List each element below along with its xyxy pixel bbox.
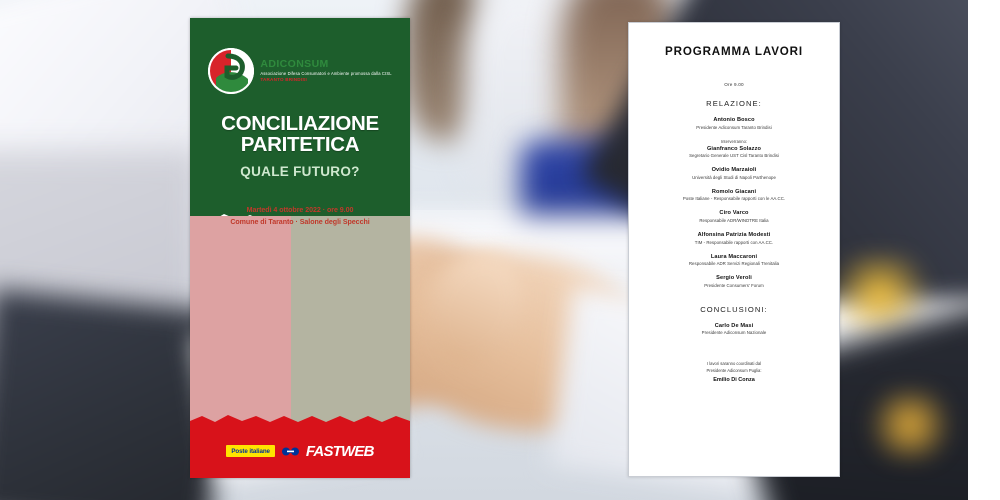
program-start-time: Ore 9.00: [641, 82, 827, 87]
speaker-role: Presidente Consumers' Forum: [641, 283, 827, 288]
coordinator-note-line2: Presidente Adiconsum Puglia:: [641, 368, 827, 375]
adiconsum-logo-subtitle: Associazione Difesa Consumatori e Ambien…: [260, 72, 391, 76]
poster-subtitle: QUALE FUTURO?: [190, 164, 410, 179]
speaker-name: Ciro Varco: [641, 210, 827, 216]
speaker-name: Alfonsina Patrizia Modesti: [641, 232, 827, 238]
coordinator-note: I lavori saranno coordinati dal Presiden…: [641, 361, 827, 382]
poste-italiane-logo-icon: Poste italiane: [226, 445, 275, 457]
event-poster: ADICONSUM Associazione Difesa Consumator…: [190, 18, 410, 478]
speaker-role: Presidente Adiconsum Nazionale: [641, 330, 827, 335]
section-heading-relazione: RELAZIONE:: [641, 99, 827, 108]
poster-title-line1: CONCILIAZIONE: [221, 112, 379, 135]
speaker-entry: Interverranno: Gianfranco Solazzo Segret…: [641, 139, 827, 159]
adiconsum-circle-logo-icon: [208, 48, 254, 94]
section-heading-conclusioni: CONCLUSIONI:: [641, 305, 827, 314]
speaker-entry: Alfonsina Patrizia Modesti TIM - Respons…: [641, 232, 827, 245]
fastweb-logo-icon: FASTWEB: [306, 443, 374, 460]
speaker-name: Laura Maccaroni: [641, 254, 827, 260]
speaker-role: Università degli Studi di Napoli Parthen…: [641, 175, 827, 180]
program-title: PROGRAMMA LAVORI: [641, 45, 827, 58]
background-photo: [0, 0, 1000, 500]
poste-italiane-mark-icon: [282, 445, 299, 458]
adiconsum-logo: ADICONSUM Associazione Difesa Consumator…: [190, 48, 410, 94]
speaker-role: Responsabile ADR/WINDTRE Italia: [641, 218, 827, 223]
speaker-role: Presidente Adiconsum Taranto Brindisi: [641, 125, 827, 130]
poster-event-venue: Comune di Taranto · Salone degli Specchi: [190, 216, 410, 228]
poster-title-line2: PARITETICA: [190, 135, 410, 156]
speaker-name: Sergio Veroli: [641, 275, 827, 281]
coordinator-note-line1: I lavori saranno coordinati dal: [641, 361, 827, 368]
poster-illustration-band: [190, 216, 410, 438]
speaker-entry: Carlo De Masi Presidente Adiconsum Nazio…: [641, 323, 827, 336]
adiconsum-logo-city: TARANTO BRINDISI: [260, 78, 391, 83]
warm-light-glow-lower: [860, 390, 960, 460]
speaker-role: TIM - Responsabile rapporti con AA.CC.: [641, 240, 827, 245]
poster-sponsor-row: Poste italiane FASTWEB: [190, 436, 410, 466]
speaker-name: Ovidio Marzaioli: [641, 167, 827, 173]
speaker-entry: Laura Maccaroni Responsabile ADR Servizi…: [641, 254, 827, 267]
speaker-role: Poste Italiane - Responsabile rapporti c…: [641, 196, 827, 201]
speaker-role: Segretario Generale UST Cisl Taranto Bri…: [641, 153, 827, 158]
poster-event-date: Martedì 4 ottobre 2022 · ore 9.00: [190, 204, 410, 216]
speaker-entry: Sergio Veroli Presidente Consumers' Foru…: [641, 275, 827, 288]
speaker-name: Romolo Giacani: [641, 189, 827, 195]
speaker-role: Responsabile ADR Servizi Regionali Treni…: [641, 261, 827, 266]
speaker-entry: Antonio Bosco Presidente Adiconsum Taran…: [641, 117, 827, 130]
speaker-name: Carlo De Masi: [641, 323, 827, 329]
speaker-entry: Ciro Varco Responsabile ADR/WINDTRE Ital…: [641, 210, 827, 223]
right-white-margin: [968, 0, 1000, 500]
speaker-name: Gianfranco Solazzo: [641, 146, 827, 152]
speaker-name: Antonio Bosco: [641, 117, 827, 123]
adiconsum-logo-name: ADICONSUM: [260, 59, 391, 70]
program-sheet: PROGRAMMA LAVORI Ore 9.00 RELAZIONE: Ant…: [628, 22, 840, 477]
coordinator-name: Emilio Di Conza: [641, 377, 827, 383]
poster-event-details: Martedì 4 ottobre 2022 · ore 9.00 Comune…: [190, 204, 410, 229]
speaker-entry: Ovidio Marzaioli Università degli Studi …: [641, 167, 827, 180]
speaker-entry: Romolo Giacani Poste Italiane - Responsa…: [641, 189, 827, 202]
poster-title: CONCILIAZIONE PARITETICA: [190, 114, 410, 156]
intervention-label: Interverranno:: [641, 139, 827, 144]
